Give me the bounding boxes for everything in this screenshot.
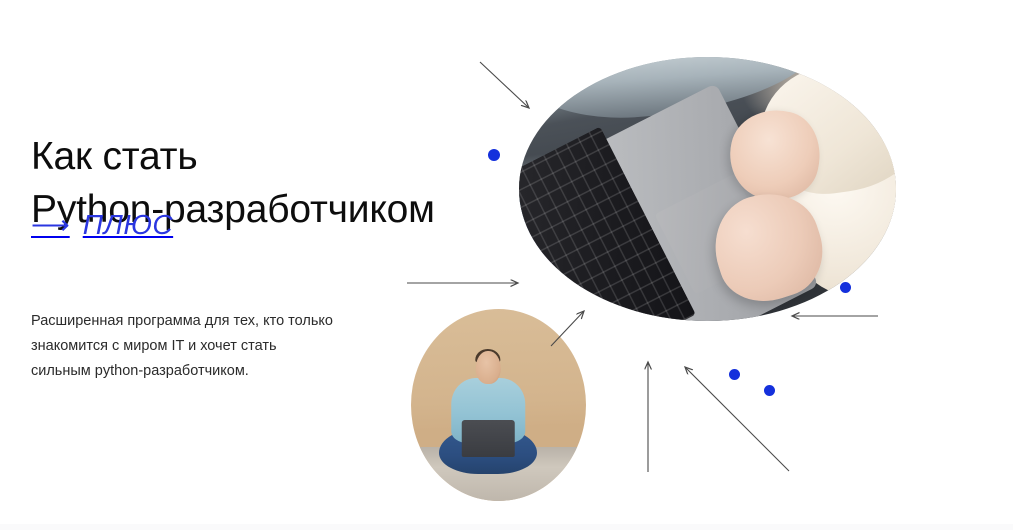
- plus-cta-link[interactable]: ⟶ ПЛЮС: [31, 209, 173, 241]
- laptop-shape: [462, 420, 515, 456]
- arrow-up-left-diagonal: [685, 367, 789, 471]
- person-with-laptop-photo: [411, 309, 586, 501]
- dot-headline: [488, 149, 500, 161]
- hero-description: Расширенная программа для тех, кто тольк…: [31, 309, 431, 384]
- arrow-right-icon: ⟶: [31, 212, 70, 239]
- dot-lower-b: [764, 385, 775, 396]
- plus-cta-label: ПЛЮС: [83, 209, 173, 241]
- dot-right-ellipse: [840, 282, 851, 293]
- head-shape: [476, 351, 501, 384]
- bottom-edge-band: [0, 524, 1013, 530]
- dot-lower-a: [729, 369, 740, 380]
- laptop-hands-photo: [519, 57, 896, 321]
- landing-hero-section: Как стать Python-разработчиком ⟶ ПЛЮС Ра…: [0, 0, 1013, 530]
